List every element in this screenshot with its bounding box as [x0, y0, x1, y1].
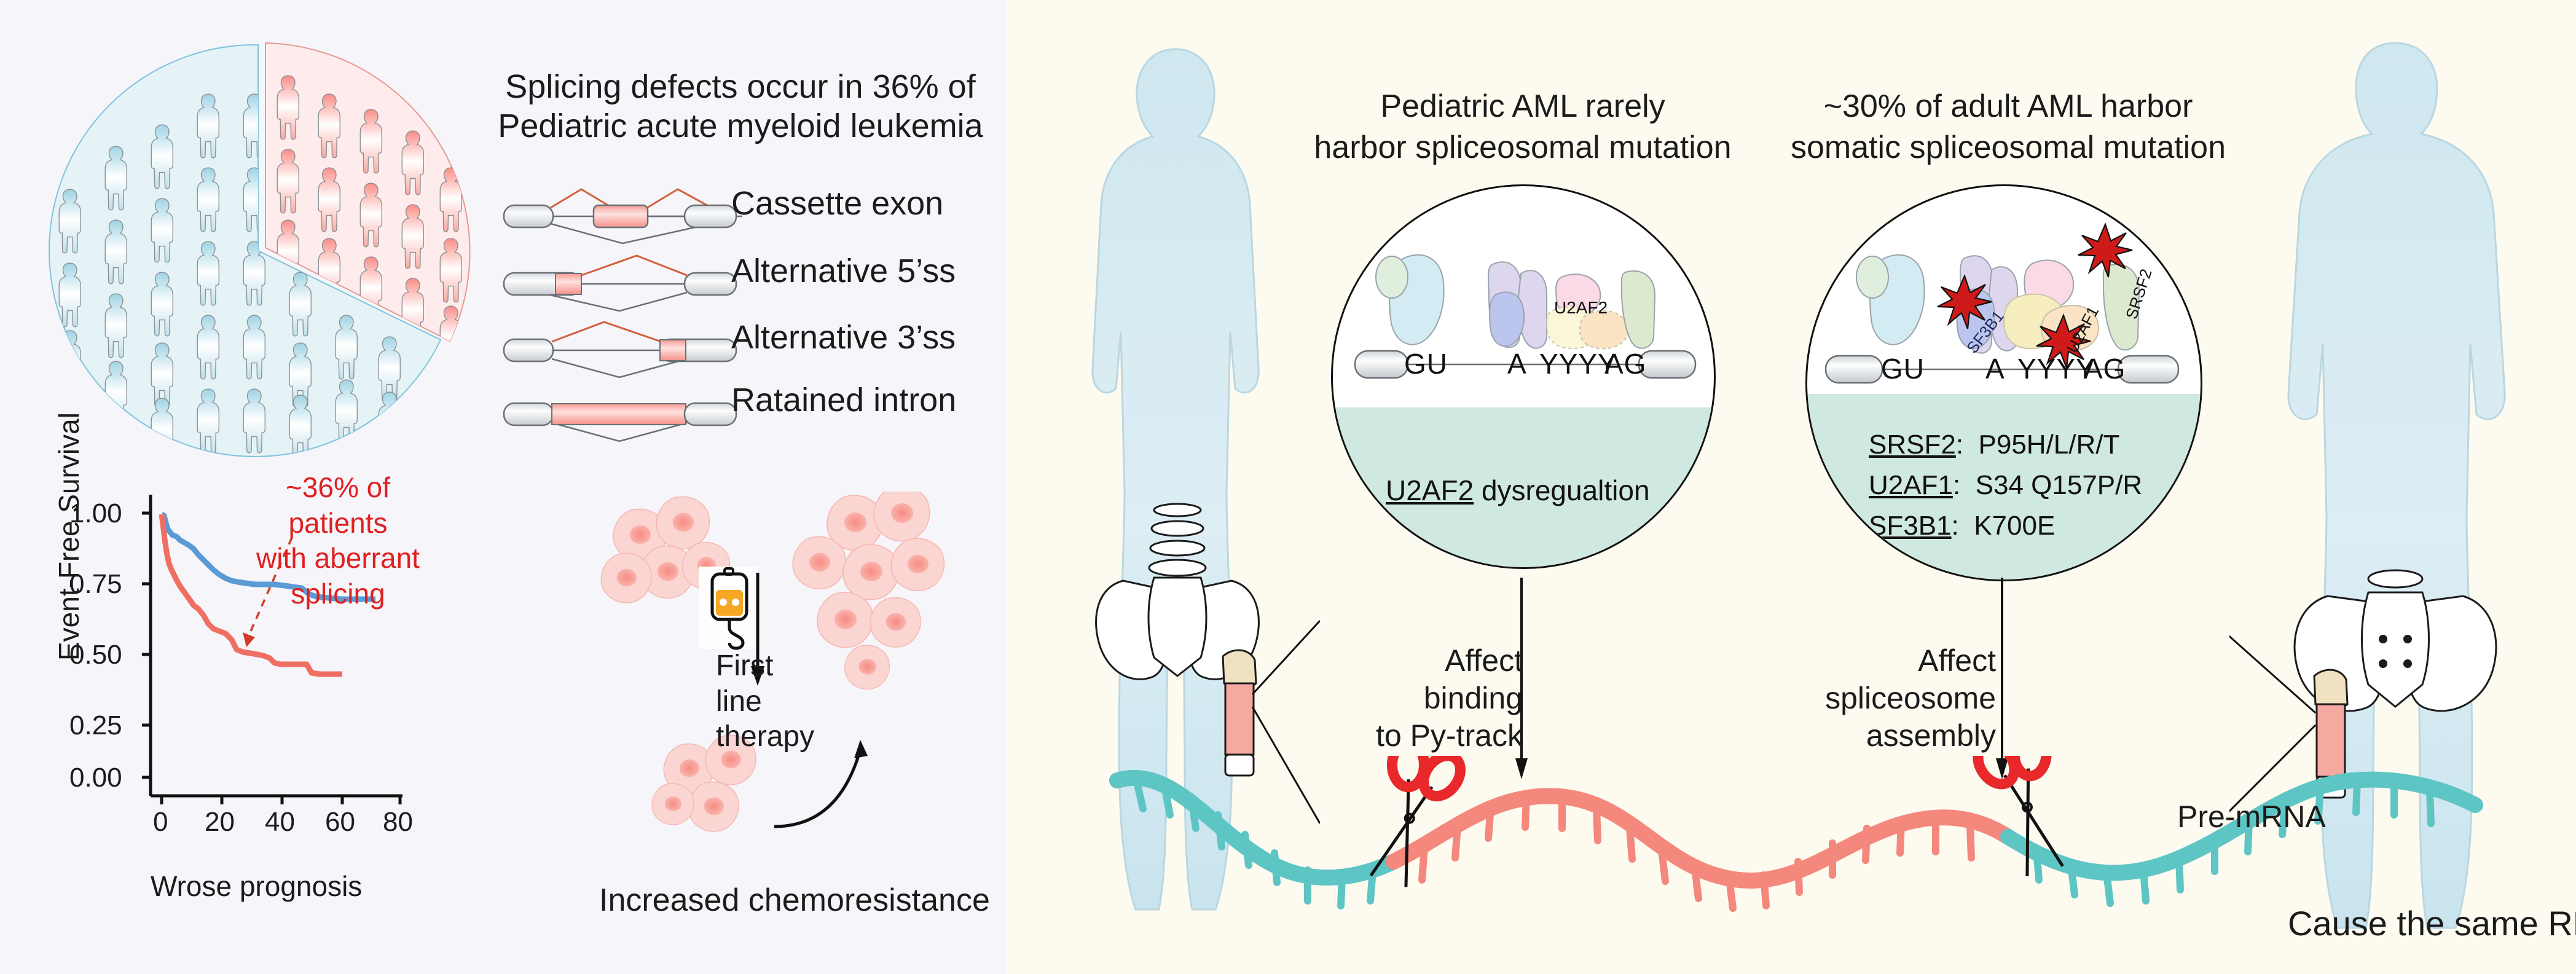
mutation-variants-u2af1: S34 Q157P/R	[1976, 470, 2143, 500]
pediatric-spliceosome-circle: GU A YYYY AG U2AF2 U2AF2 dysregualtion	[1331, 184, 1716, 569]
chemoresistance-label: Increased chemoresistance	[599, 882, 990, 919]
km-y-axis-label: Event-Free Survival	[52, 412, 85, 661]
first-line-therapy-label: First line therapy	[716, 648, 814, 755]
splice-label-alt-5ss: Alternative 5’ss	[731, 252, 956, 290]
affect-assembly-label: Affect spliceosome assembly	[1799, 642, 1996, 755]
mutation-row-srsf2: SRSF2: P95H/L/R/T	[1869, 430, 2119, 460]
rna-strand-illustration	[1105, 756, 2494, 934]
pediatric-donor-site: GU	[1404, 347, 1448, 380]
adult-spliceosome-circle: GU A YYYY AG SF3B1 U2AF1 SRSF2 SRSF2: P9…	[1805, 184, 2202, 581]
u2af2-protein-label: U2AF2	[1554, 298, 1608, 318]
km-ytick-4: 0.25	[69, 710, 122, 741]
km-x-axis-label: Wrose prognosis	[151, 870, 362, 903]
mutation-row-u2af1: U2AF1: S34 Q157P/R	[1869, 470, 2142, 501]
adult-donor-site: GU	[1881, 352, 1925, 385]
pediatric-caption-gene: U2AF2	[1386, 474, 1474, 506]
figure-root: Splicing defects occur in 36% of Pediatr…	[0, 0, 2576, 974]
splice-label-alt-3ss: Alternative 3’ss	[731, 318, 956, 356]
mutation-gene-srsf2: SRSF2	[1869, 430, 1956, 460]
splice-label-retained-intron: Ratained intron	[731, 381, 956, 419]
km-ytick-5: 0.00	[69, 763, 122, 793]
bottom-caption: Cause the same RNA aberrant splicing	[2288, 903, 2576, 943]
km-xtick-1: 0	[153, 807, 168, 838]
pre-mrna-label: Pre-mRNA	[2177, 799, 2326, 835]
km-xtick-3: 40	[265, 807, 295, 838]
pie-chart-title: Splicing defects occur in 36% of Pediatr…	[492, 68, 989, 146]
km-xtick-4: 60	[325, 807, 355, 838]
survival-plot: 1.00 0.75 0.50 0.25 0.00 0 20 40 60 80 E…	[58, 476, 439, 906]
pediatric-heading: Pediatric AML rarely harbor spliceosomal…	[1308, 86, 1738, 168]
mutation-row-sf3b1: SF3B1: K700E	[1869, 511, 2055, 541]
pediatric-branch-point: A	[1507, 347, 1527, 380]
patient-pie-chart	[37, 36, 479, 466]
adult-acceptor-site: AG	[2084, 352, 2126, 385]
pediatric-acceptor-site: AG	[1604, 347, 1646, 380]
right-panel: Pediatric AML rarely harbor spliceosomal…	[1007, 0, 2576, 974]
km-annotation: ~36% of patients with aberrant splicing	[237, 470, 439, 611]
km-xtick-2: 20	[205, 807, 235, 838]
affect-binding-label: Affect binding to Py-track	[1338, 642, 1523, 755]
pediatric-circle-caption: U2AF2 dysregualtion	[1386, 474, 1650, 507]
mutation-variants-sf3b1: K700E	[1974, 511, 2055, 541]
mutation-variants-srsf2: P95H/L/R/T	[1979, 430, 2120, 460]
left-panel: Splicing defects occur in 36% of Pediatr…	[0, 0, 1007, 974]
mutation-gene-sf3b1: SF3B1	[1869, 511, 1952, 541]
splice-label-cassette-exon: Cassette exon	[731, 184, 943, 222]
mutation-gene-u2af1: U2AF1	[1869, 470, 1953, 500]
adult-heading: ~30% of adult AML harbor somatic spliceo…	[1775, 86, 2242, 168]
km-xtick-5: 80	[383, 807, 413, 838]
adult-branch-point: A	[1985, 352, 2005, 385]
pediatric-caption-rest: dysregualtion	[1474, 474, 1649, 506]
